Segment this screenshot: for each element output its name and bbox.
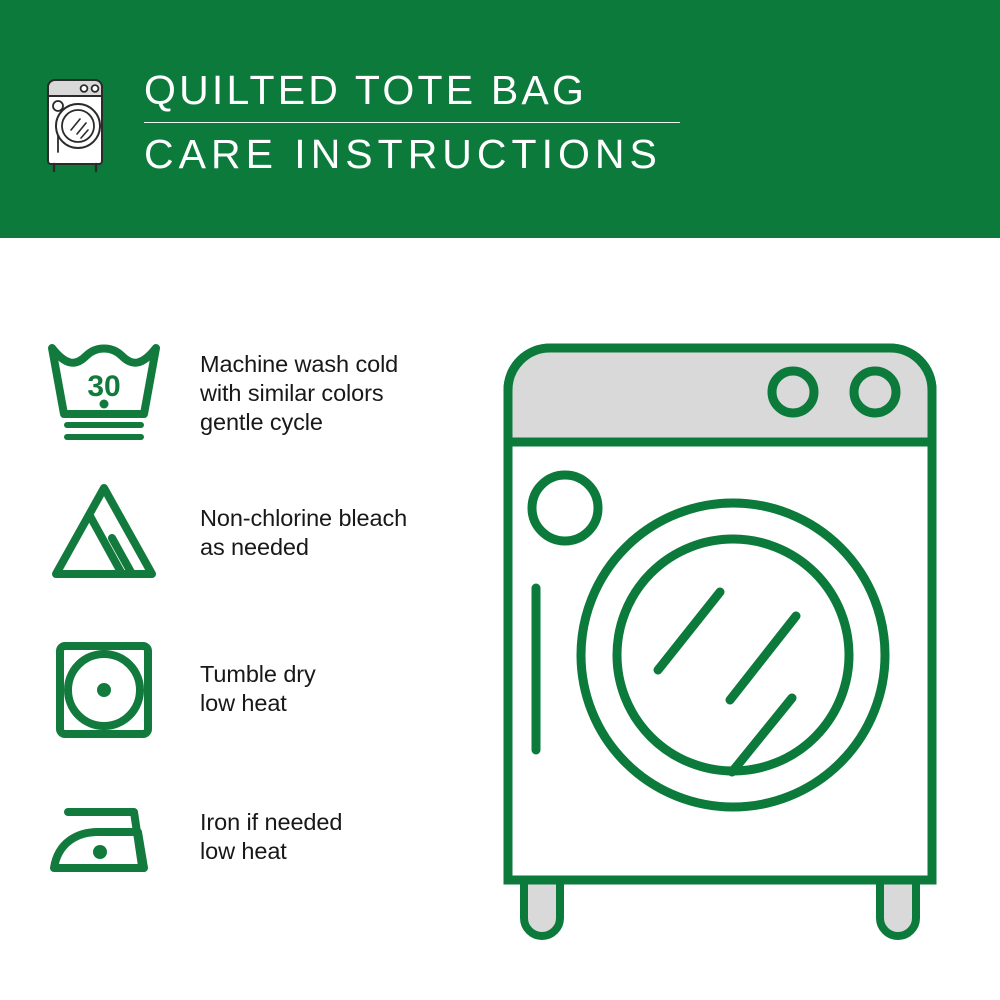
label-line: Iron if needed [200,808,466,837]
wash-temperature-label: 30 [87,370,120,403]
iron-low-heat-icon [46,790,162,894]
large-washing-machine-illustration [490,330,980,940]
header-banner: QUILTED TOTE BAG CARE INSTRUCTIONS [0,0,1000,238]
list-item: Non-chlorine bleach as needed [46,480,466,584]
page-subtitle: CARE INSTRUCTIONS [144,130,704,178]
instructions-list: 30 Machine wash cold with similar colors… [0,238,480,1000]
label-line: gentle cycle [200,408,466,437]
label-line: with similar colors [200,379,466,408]
bleach-triangle-non-chlorine-icon [46,480,162,584]
machine-knob-right [854,371,896,413]
machine-indicator-circle [532,475,598,541]
title-divider [144,122,680,123]
list-item: Iron if needed low heat [46,790,466,894]
label-line: Machine wash cold [200,350,466,379]
care-instructions-page: QUILTED TOTE BAG CARE INSTRUCTIONS 30 [0,0,1000,1000]
list-item: Tumble dry low heat [46,638,466,742]
label-line: Non-chlorine bleach [200,504,466,533]
header-text-block: QUILTED TOTE BAG CARE INSTRUCTIONS [144,66,704,178]
wash-tub-30-gentle-icon: 30 [46,340,162,444]
machine-knob-left [772,371,814,413]
machine-door-inner [617,539,849,771]
list-item-label: Machine wash cold with similar colors ge… [162,340,466,437]
tumble-dry-low-heat-icon [46,638,162,742]
washing-machine-icon [44,64,106,174]
label-line: low heat [200,689,466,718]
label-line: as needed [200,533,466,562]
label-line: low heat [200,837,466,866]
label-line: Tumble dry [200,660,466,689]
list-item: 30 Machine wash cold with similar colors… [46,340,466,444]
page-title: QUILTED TOTE BAG [144,66,704,114]
list-item-label: Tumble dry low heat [162,638,466,718]
list-item-label: Non-chlorine bleach as needed [162,480,466,562]
list-item-label: Iron if needed low heat [162,790,466,866]
